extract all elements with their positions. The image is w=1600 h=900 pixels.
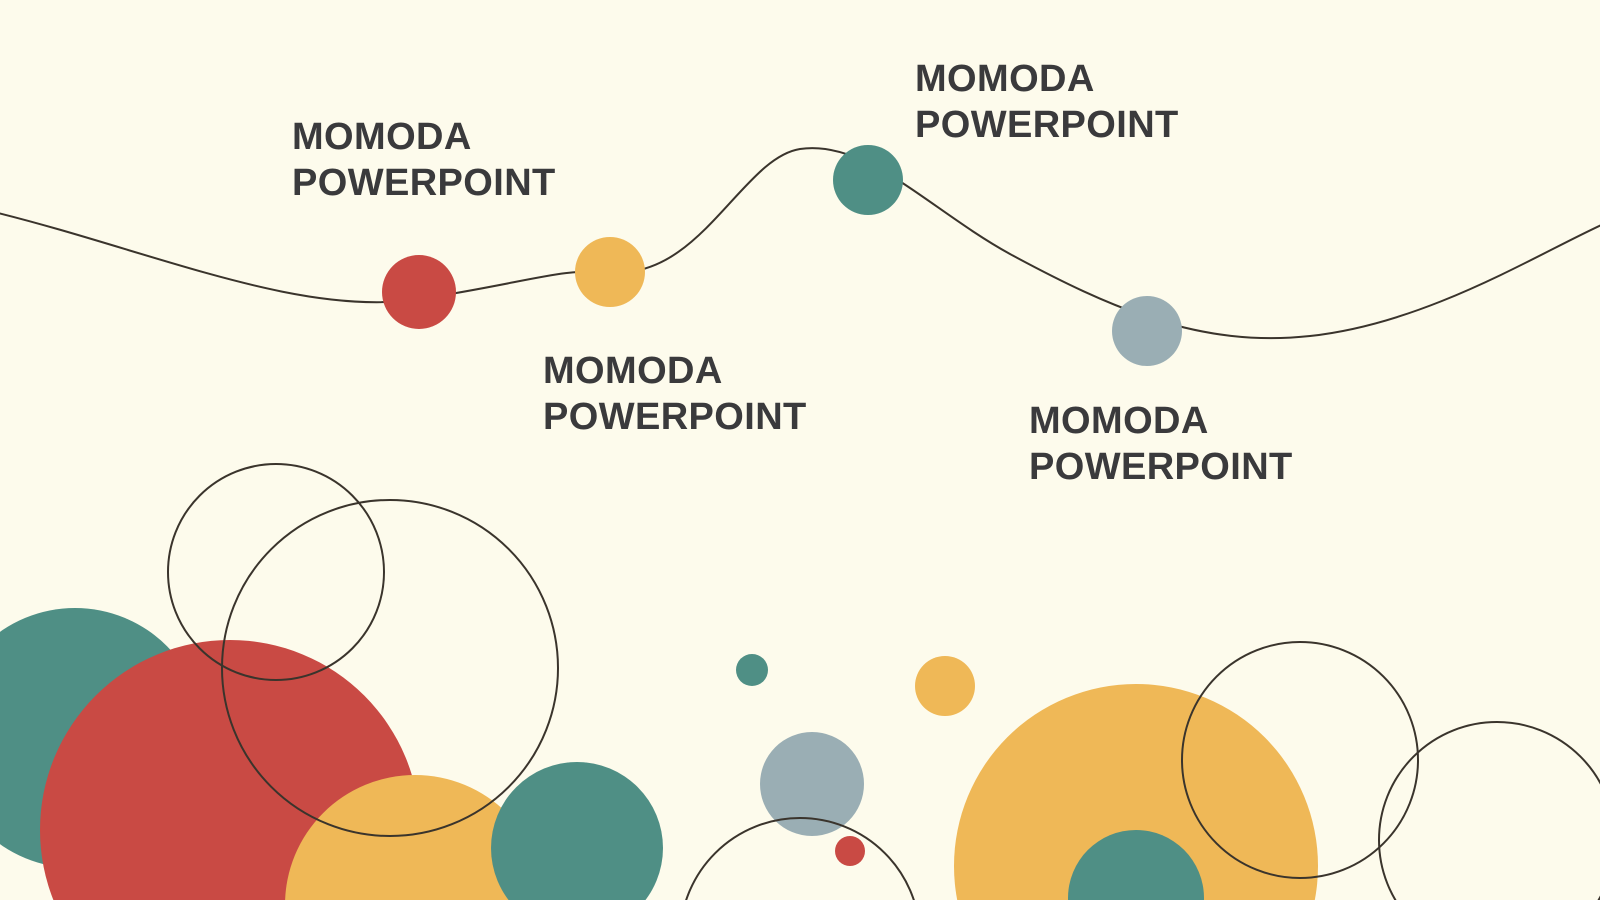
timeline-label-1: MOMODA POWERPOINT	[292, 114, 556, 207]
timeline-node-teal[interactable]	[833, 145, 903, 215]
timeline-node-amber[interactable]	[575, 237, 645, 307]
timeline-node-slate[interactable]	[1112, 296, 1182, 366]
decorative-artwork	[0, 0, 1600, 900]
timeline-label-2: MOMODA POWERPOINT	[915, 56, 1179, 149]
timeline-label-3: MOMODA POWERPOINT	[543, 348, 807, 441]
decor-dot-teal-small	[736, 654, 768, 686]
presentation-slide: MOMODA POWERPOINT MOMODA POWERPOINT MOMO…	[0, 0, 1600, 900]
decor-dot-red-small	[835, 836, 865, 866]
timeline-label-4: MOMODA POWERPOINT	[1029, 398, 1293, 491]
decor-circle-amber-small	[915, 656, 975, 716]
timeline-node-red[interactable]	[382, 255, 456, 329]
